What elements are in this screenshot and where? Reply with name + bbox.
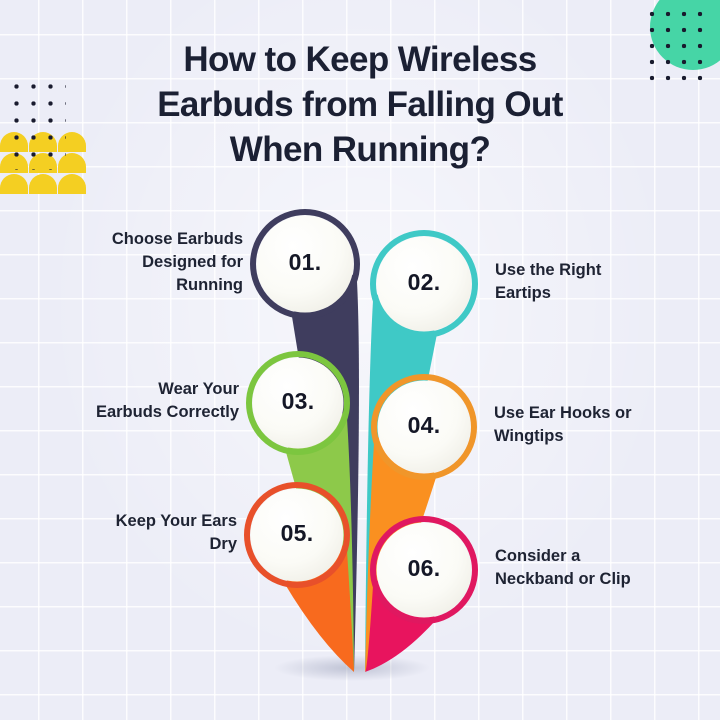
page-title: How to Keep Wireless Earbuds from Fallin…	[0, 38, 720, 172]
step-pin-disc-1	[257, 216, 354, 313]
step-label-6: Consider aNeckband or Clip	[495, 545, 700, 592]
page-title-line-1: How to Keep Wireless	[0, 38, 720, 83]
step-label-1: Choose EarbudsDesigned forRunning	[40, 228, 243, 298]
step-label-3: Wear YourEarbuds Correctly	[40, 378, 239, 425]
step-pin-disc-2	[377, 237, 472, 332]
step-pin-disc-5	[251, 489, 344, 582]
step-pin-disc-3	[253, 358, 344, 449]
step-label-4: Use Ear Hooks orWingtips	[494, 402, 700, 449]
step-pin-disc-6	[377, 523, 472, 618]
step-pin-5[interactable]	[247, 485, 354, 672]
page-title-line-3: When Running?	[0, 128, 720, 173]
page-title-line-2: Earbuds from Falling Out	[0, 83, 720, 128]
step-pin-disc-4	[378, 381, 471, 474]
step-pin-6[interactable]	[365, 519, 475, 672]
step-label-5: Keep Your EarsDry	[40, 510, 237, 557]
step-label-2: Use the RightEartips	[495, 259, 700, 306]
